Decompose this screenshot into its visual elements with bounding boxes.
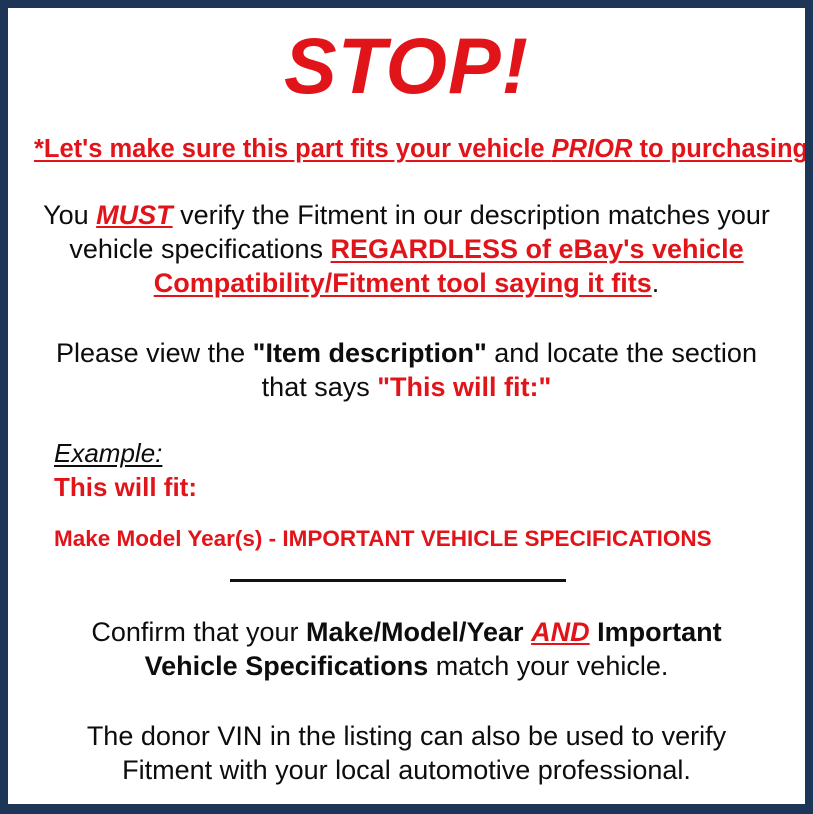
confirm-space-1 [524, 617, 532, 647]
confirm-space-2 [590, 617, 598, 647]
make-model-year-label: Make/Model/Year [306, 617, 524, 647]
must-verify-paragraph: You MUST verify the Fitment in our descr… [34, 198, 779, 300]
and-keyword: AND [531, 617, 590, 647]
example-fit-heading: This will fit: [54, 472, 779, 503]
divider-container [34, 575, 779, 587]
view-text-lead: Please view the [56, 338, 253, 368]
example-spec-line: Make Model Year(s) - IMPORTANT VEHICLE S… [34, 525, 779, 552]
subtitle-emphasis-prior: PRIOR [552, 135, 633, 163]
section-divider [230, 579, 566, 582]
must-text-lead: You [43, 200, 96, 230]
item-description-label: "Item description" [253, 338, 487, 368]
donor-vin-paragraph: The donor VIN in the listing can also be… [34, 719, 779, 787]
this-will-fit-quote: "This will fit:" [377, 372, 551, 402]
subtitle-text-before: *Let's make sure this part fits your veh… [34, 135, 552, 163]
example-label-row: Example: [54, 438, 779, 469]
must-keyword: MUST [96, 200, 173, 230]
must-text-period: . [652, 268, 660, 298]
example-block: Example: This will fit: [34, 438, 779, 503]
confirm-text-lead: Confirm that your [91, 617, 306, 647]
subtitle-banner: *Let's make sure this part fits your veh… [34, 135, 779, 164]
fitment-notice-card: STOP! *Let's make sure this part fits yo… [0, 0, 813, 814]
confirm-text-tail: match your vehicle. [428, 651, 668, 681]
page-title: STOP! [34, 26, 779, 105]
example-label: Example: [54, 438, 162, 469]
notice-inner-panel: STOP! *Let's make sure this part fits yo… [8, 8, 805, 804]
subtitle-text-after: to purchasing* [632, 135, 813, 163]
confirm-paragraph: Confirm that your Make/Model/Year AND Im… [34, 615, 779, 683]
view-item-description-paragraph: Please view the "Item description" and l… [34, 336, 779, 404]
